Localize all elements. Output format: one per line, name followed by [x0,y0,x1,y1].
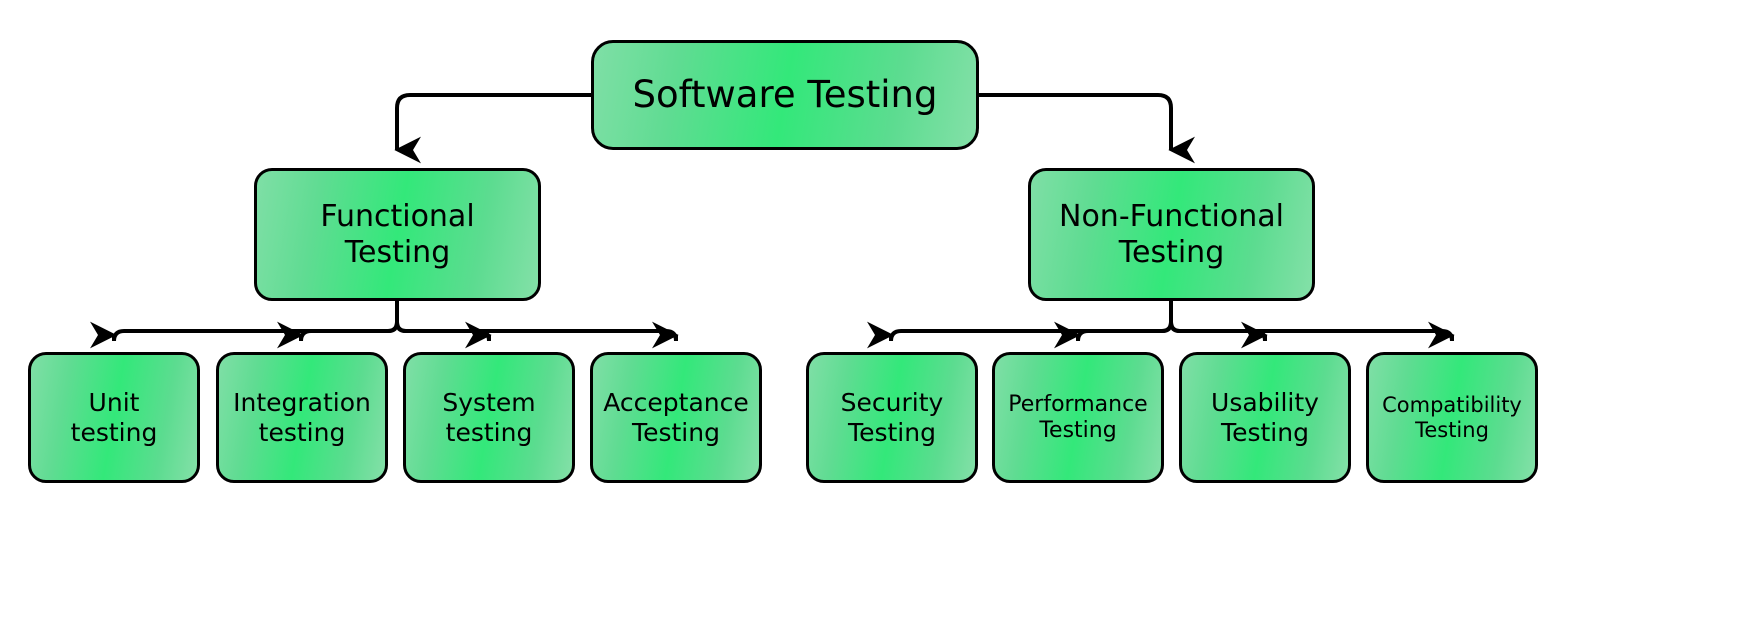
node-label: Integration testing [225,388,379,447]
edge-non-functional-to-performance [1078,322,1171,341]
edge-root-to-non-functional [979,95,1171,150]
node-security-testing[interactable]: Security Testing [806,352,978,483]
node-label: Performance Testing [1001,392,1155,444]
node-non-functional-testing[interactable]: Non-Functional Testing [1028,168,1315,301]
node-label: Security Testing [815,388,969,447]
node-unit-testing[interactable]: Unit testing [28,352,200,483]
edge-non-functional-to-security [891,322,1171,341]
edge-root-to-functional [397,95,591,150]
node-label: Compatibility Testing [1375,393,1529,443]
software-testing-diagram: Software Testing Functional Testing Non-… [0,0,1751,641]
node-acceptance-testing[interactable]: Acceptance Testing [590,352,762,483]
node-usability-testing[interactable]: Usability Testing [1179,352,1351,483]
node-label: Usability Testing [1188,388,1342,447]
node-software-testing[interactable]: Software Testing [591,40,979,150]
edge-functional-to-integration [301,322,397,341]
node-integration-testing[interactable]: Integration testing [216,352,388,483]
node-label: Unit testing [37,388,191,447]
edge-non-functional-to-compatibility [1171,322,1452,341]
node-label: System testing [412,388,566,447]
edge-functional-to-system [397,322,489,341]
edge-functional-to-unit [114,322,397,341]
node-label: Software Testing [600,73,970,117]
node-system-testing[interactable]: System testing [403,352,575,483]
node-performance-testing[interactable]: Performance Testing [992,352,1164,483]
edge-functional-to-acceptance [397,322,676,341]
edge-non-functional-to-usability [1171,322,1265,341]
node-compatibility-testing[interactable]: Compatibility Testing [1366,352,1538,483]
node-label: Functional Testing [263,199,532,270]
node-label: Non-Functional Testing [1037,199,1306,270]
node-functional-testing[interactable]: Functional Testing [254,168,541,301]
node-label: Acceptance Testing [599,388,753,447]
